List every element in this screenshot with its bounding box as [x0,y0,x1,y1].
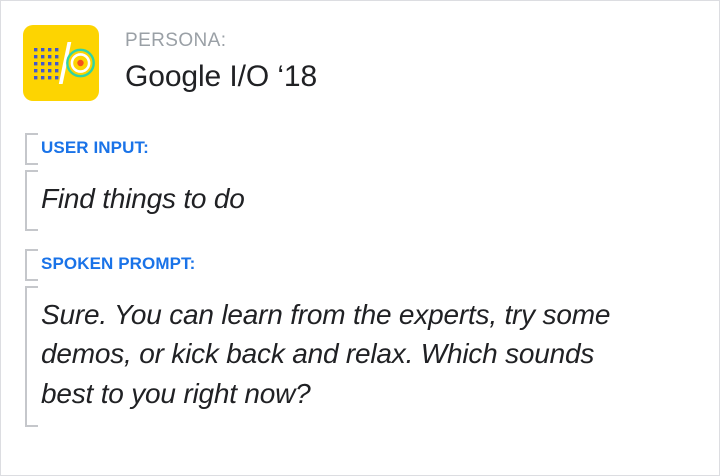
spoken-prompt-label-bracket: SPOKEN PROMPT: [23,249,695,281]
section-user-input: USER INPUT: Find things to do [23,133,695,231]
spoken-prompt-line: best to you right now? [41,374,695,414]
section-spoken-prompt: SPOKEN PROMPT: Sure. You can learn from … [23,249,695,427]
bracket-tick-top [25,249,38,251]
user-input-body-bracket: Find things to do [23,170,695,232]
persona-text-block: PERSONA: Google I/O ‘18 [125,25,317,95]
google-io-logo [23,25,99,101]
spoken-prompt-label: SPOKEN PROMPT: [41,254,695,274]
user-input-label: USER INPUT: [41,138,695,158]
bracket-tick-top [25,286,38,288]
persona-name: Google I/O ‘18 [125,58,317,96]
bracket-tick-top [25,170,38,172]
persona-header: PERSONA: Google I/O ‘18 [23,25,317,101]
spoken-prompt-body-bracket: Sure. You can learn from the experts, tr… [23,286,695,427]
bracket-tick-bottom [25,229,38,231]
spoken-prompt-line: demos, or kick back and relax. Which sou… [41,334,695,374]
persona-label: PERSONA: [125,30,317,53]
bracket-tick-bottom [25,425,38,427]
spoken-prompt-text: Sure. You can learn from the experts, tr… [41,295,695,414]
persona-dialog-card: PERSONA: Google I/O ‘18 USER INPUT: Find… [0,0,720,476]
bracket-tick-top [25,133,38,135]
bracket-tick-bottom [25,279,38,281]
user-input-text: Find things to do [41,179,695,219]
spoken-prompt-line: Sure. You can learn from the experts, tr… [41,295,695,335]
bracket-tick-bottom [25,163,38,165]
user-input-label-bracket: USER INPUT: [23,133,695,165]
